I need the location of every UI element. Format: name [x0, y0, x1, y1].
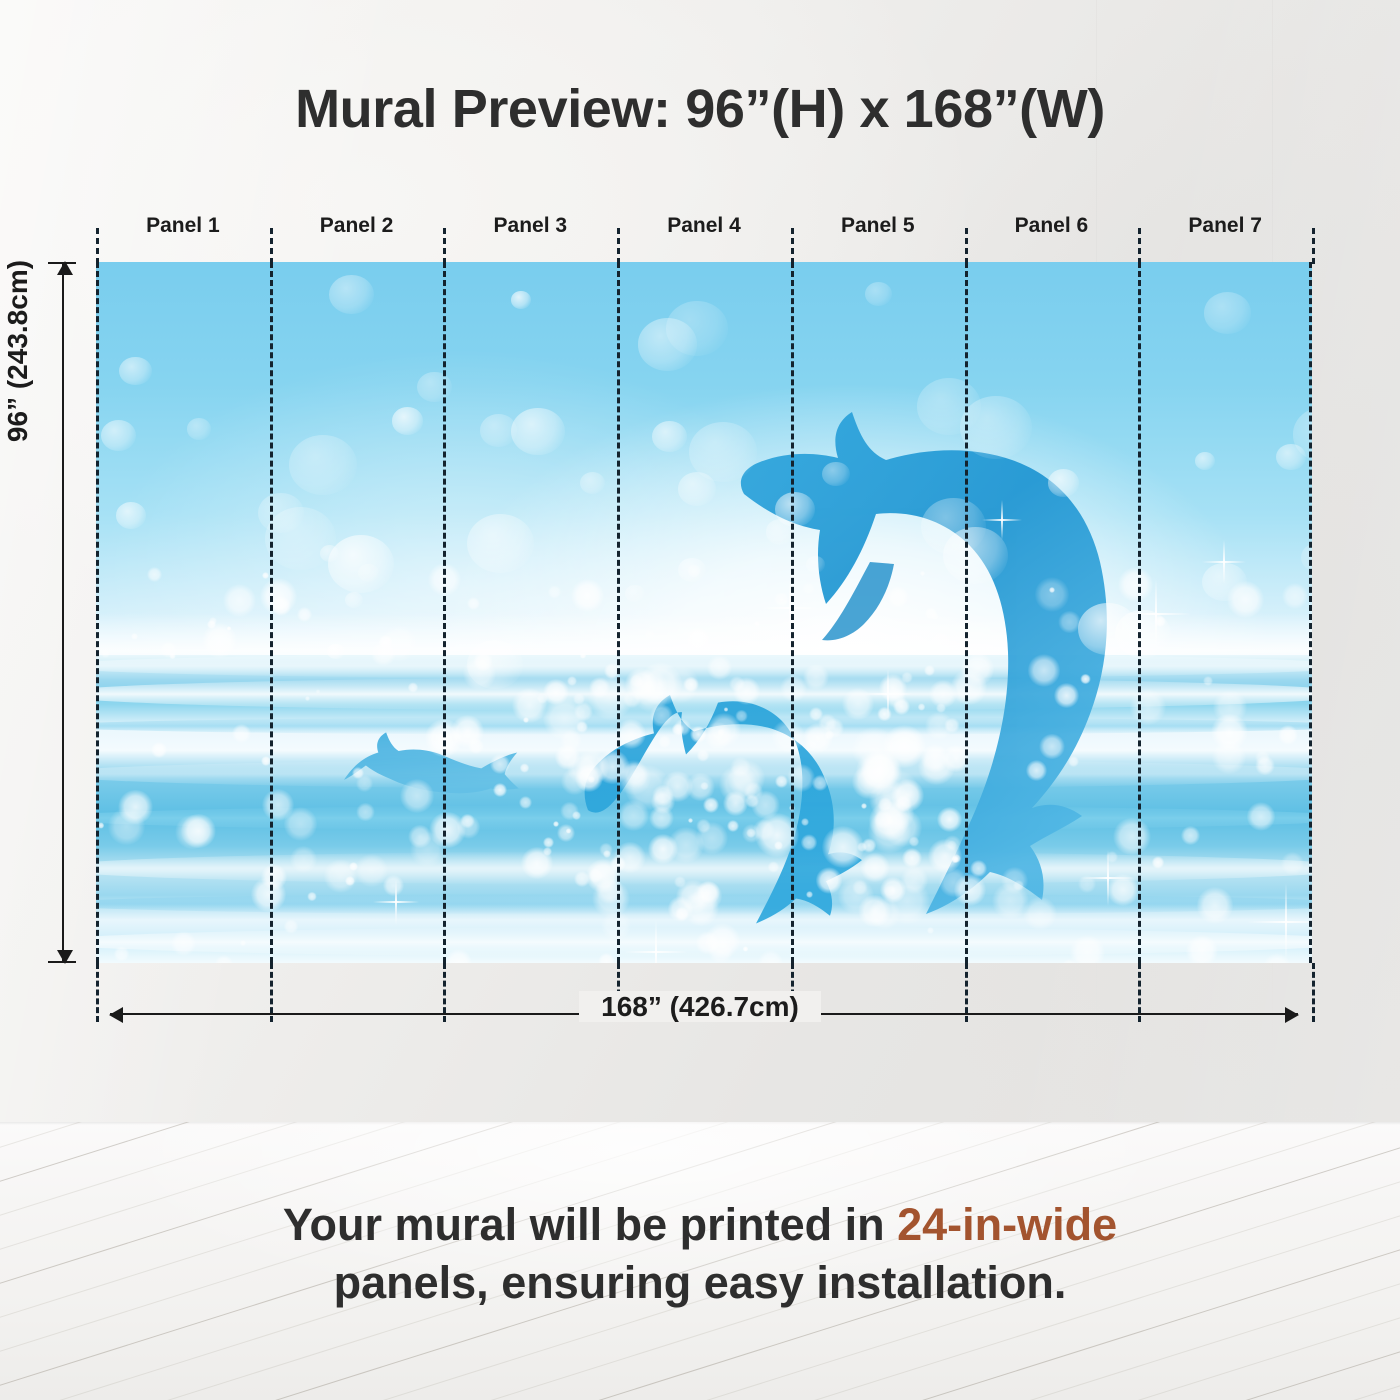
water-spray-dot: [240, 940, 246, 946]
arrow-down-icon: [57, 950, 73, 964]
splash-dot: [937, 807, 962, 832]
water-spray-dot: [1026, 760, 1047, 781]
water-spray-dot: [223, 584, 256, 617]
water-spray-dot: [1282, 583, 1308, 609]
water-spray-dot: [307, 892, 317, 902]
splash-dot: [801, 818, 809, 826]
water-spray-dot: [181, 814, 215, 848]
sparkle-star-icon: [373, 879, 419, 925]
splash-dot: [649, 806, 673, 830]
bokeh-dot: [1204, 292, 1251, 334]
splash-dot: [674, 719, 691, 736]
water-spray-dot: [806, 891, 813, 898]
water-spray-dot: [151, 742, 167, 758]
panel-guide-top-3: [617, 228, 620, 264]
splash-dot: [861, 803, 867, 809]
water-spray-dot: [284, 919, 299, 934]
water-spray-dot: [1058, 611, 1081, 634]
water-spray-dot: [493, 783, 507, 797]
water-spray-dot: [297, 607, 312, 622]
water-spray-dot: [463, 657, 496, 690]
water-spray-dot: [1255, 756, 1275, 776]
splash-dot: [696, 822, 728, 854]
water-spray-dot: [305, 696, 310, 701]
splash-dot: [574, 871, 590, 887]
bokeh-dot: [511, 291, 531, 308]
water-spray-dot: [101, 649, 110, 658]
width-dimension-text: 168” (426.7cm): [579, 991, 821, 1022]
mural-artwork: [96, 262, 1312, 963]
bokeh-dot: [625, 585, 645, 602]
panel-label-row: Panel 1Panel 2Panel 3Panel 4Panel 5Panel…: [96, 214, 1312, 248]
water-spray-dot: [1203, 676, 1213, 686]
water-spray-dot: [1028, 654, 1061, 687]
splash-dot: [560, 730, 582, 752]
panel-label-3: Panel 3: [443, 214, 617, 248]
water-spray-dot: [251, 877, 286, 912]
splash-dot: [537, 692, 548, 703]
bokeh-dot: [1195, 452, 1215, 470]
panel-label-4: Panel 4: [617, 214, 791, 248]
sparkle-star-icon: [624, 920, 688, 963]
caption-line-2: panels, ensuring easy installation.: [0, 1254, 1400, 1312]
water-spray-dot: [924, 665, 936, 677]
water-spray-dot: [1281, 852, 1304, 875]
water-spray-dot: [284, 807, 318, 841]
splash-dot: [860, 853, 890, 883]
water-spray-dot: [1039, 734, 1064, 759]
sparkle-star-icon: [982, 500, 1022, 540]
splash-dot: [575, 750, 610, 785]
water-spray-dot: [114, 946, 129, 961]
water-spray-dot: [1070, 935, 1105, 963]
water-spray-dot: [686, 627, 710, 651]
bokeh-dot: [960, 396, 1032, 459]
panel-label-5: Panel 5: [791, 214, 965, 248]
height-dimension-line: [62, 262, 64, 963]
panel-guide-top-6: [1138, 228, 1141, 264]
splash-dot: [925, 712, 953, 740]
splash-dot: [557, 824, 575, 842]
panel-guide-top-1: [270, 228, 273, 264]
water-spray-dot: [262, 572, 269, 579]
water-spray-dot: [801, 834, 817, 850]
water-spray-dot: [316, 689, 321, 694]
splash-dot: [703, 797, 719, 813]
water-spray-dot: [1001, 867, 1027, 893]
panel-label-2: Panel 2: [270, 214, 444, 248]
bokeh-dot: [652, 421, 688, 452]
water-spray-dot: [724, 707, 728, 711]
water-spray-dot: [658, 735, 671, 748]
water-spray-dot: [290, 846, 318, 874]
splash-dot: [951, 669, 987, 705]
caption-text-before: Your mural will be printed in: [283, 1199, 897, 1250]
water-spray-dot: [1306, 741, 1312, 754]
splash-dot: [733, 677, 760, 704]
water-spray-dot: [215, 955, 233, 963]
water-spray-dot: [644, 629, 655, 640]
water-spray-dot: [887, 586, 909, 608]
water-spray-dot: [927, 927, 933, 933]
water-spray-dot: [519, 796, 533, 810]
water-spray-dot: [758, 950, 783, 963]
splash-dot: [622, 762, 648, 788]
panel-guide-top-5: [965, 228, 968, 264]
bokeh-dot: [417, 372, 452, 403]
bokeh-dot: [116, 502, 146, 529]
splash-dot: [697, 749, 710, 762]
water-spray-dot: [920, 571, 925, 576]
water-spray-dot: [352, 767, 363, 778]
panel-label-6: Panel 6: [965, 214, 1139, 248]
splash-dot: [884, 879, 930, 925]
panel-divider-4: [791, 262, 794, 963]
splash-dot: [883, 808, 922, 847]
water-spray-dot: [727, 820, 739, 832]
splash-dot: [822, 826, 865, 869]
panel-divider-5: [965, 262, 968, 963]
water-spray-dot: [708, 939, 733, 963]
water-spray-dot: [754, 621, 760, 627]
splash-dot: [572, 811, 581, 820]
sparkle-star-icon: [1080, 850, 1136, 906]
water-spray-dot: [1227, 581, 1264, 618]
water-spray-dot: [598, 953, 615, 963]
water-spray-dot: [451, 715, 484, 748]
water-spray-dot: [98, 822, 104, 828]
splash-dot: [700, 782, 709, 791]
panel-guide-top-4: [791, 228, 794, 264]
caption-highlight: 24-in-wide: [897, 1199, 1117, 1250]
splash-dot: [780, 675, 807, 702]
water-spray-dot: [648, 834, 678, 864]
splash-dot: [902, 848, 922, 868]
water-spray-dot: [580, 652, 586, 658]
sparkle-star-icon: [863, 669, 913, 719]
bokeh-dot: [289, 435, 357, 495]
bokeh-dot: [638, 318, 697, 370]
sparkle-star-icon: [1202, 540, 1246, 584]
panel-label-1: Panel 1: [96, 214, 270, 248]
water-spray-dot: [429, 812, 465, 848]
water-spray-dot: [400, 779, 434, 813]
bokeh-dot: [392, 407, 423, 435]
splash-dot: [818, 714, 837, 733]
bokeh-dot: [580, 472, 605, 494]
water-spray-dot: [260, 578, 297, 615]
page-title: Mural Preview: 96”(H) x 168”(W): [0, 78, 1400, 140]
bokeh-dot: [865, 282, 892, 306]
panel-divider-3: [617, 262, 620, 963]
water-spray-dot: [1197, 887, 1234, 924]
bokeh-dot: [1301, 543, 1312, 572]
water-spray-dot: [520, 763, 529, 772]
caption-line-1: Your mural will be printed in 24-in-wide: [0, 1196, 1400, 1254]
water-spray-dot: [1054, 683, 1079, 708]
water-spray-dot: [688, 818, 693, 823]
water-spray-dot: [928, 631, 953, 656]
bokeh-dot: [806, 556, 825, 573]
bokeh-dot: [1048, 469, 1079, 497]
splash-dot: [861, 750, 900, 789]
splash-dot: [676, 880, 710, 914]
bokeh-dot: [345, 592, 363, 608]
panel-guide-top-2: [443, 228, 446, 264]
footer-caption: Your mural will be printed in 24-in-wide…: [0, 1196, 1400, 1311]
panel-divider-1: [270, 262, 273, 963]
water-spray-dot: [1023, 897, 1057, 931]
water-spray-dot: [599, 843, 613, 857]
sparkle-star-icon: [1247, 883, 1312, 961]
bokeh-dot: [187, 418, 211, 439]
panel-guide-top-7: [1312, 228, 1315, 264]
water-spray-dot: [1186, 935, 1218, 963]
water-spray-dot: [356, 803, 375, 822]
water-spray-dot: [1278, 725, 1298, 745]
water-spray-dot: [1152, 856, 1165, 869]
bokeh-dot: [265, 507, 337, 570]
water-spray-dot: [1080, 674, 1090, 684]
water-spray-dot: [131, 633, 139, 641]
mural-bokeh-overlay: [96, 262, 1312, 963]
panel-divider-6: [1138, 262, 1141, 963]
water-spray-dot: [490, 754, 510, 774]
water-spray-dot: [1130, 689, 1166, 725]
bokeh-dot: [689, 422, 757, 482]
water-spray-dot: [683, 677, 699, 693]
water-spray-dot: [408, 682, 418, 692]
water-spray-dot: [1309, 607, 1312, 612]
bokeh-dot: [119, 357, 152, 386]
water-spray-dot: [169, 653, 176, 660]
splash-dot: [616, 719, 646, 749]
bokeh-dot: [921, 498, 986, 556]
water-spray-dot: [1247, 802, 1276, 831]
splash-dot: [771, 720, 805, 754]
water-spray-dot: [571, 579, 604, 612]
bokeh-dot: [329, 275, 373, 314]
water-spray-dot: [232, 724, 251, 743]
panel-label-7: Panel 7: [1138, 214, 1312, 248]
water-spray-dot: [467, 597, 480, 610]
splash-dot: [768, 861, 780, 873]
water-spray-dot: [707, 655, 732, 680]
splash-dot: [878, 797, 892, 811]
panel-guide-top-0: [96, 228, 99, 264]
splash-dot: [954, 874, 986, 906]
water-spray-dot: [1068, 756, 1079, 767]
splash-dot: [918, 703, 925, 710]
bokeh-dot: [467, 514, 534, 573]
water-spray-dot: [324, 859, 358, 893]
splash-dot: [588, 675, 633, 720]
water-spray-dot: [1181, 826, 1200, 845]
mural-preview-screenshot: Mural Preview: 96”(H) x 168”(W) Panel 1P…: [0, 0, 1400, 1400]
water-spray-dot: [1309, 820, 1312, 855]
water-spray-dot: [931, 613, 938, 620]
water-spray-dot: [108, 808, 146, 846]
water-spray-dot: [171, 931, 196, 956]
sparkle-star-icon: [1121, 579, 1191, 649]
splash-dot: [567, 676, 577, 686]
bokeh-dot: [822, 462, 850, 486]
splash-dot: [735, 710, 748, 723]
bokeh-dot: [328, 535, 394, 593]
water-spray-dot: [202, 623, 237, 658]
bokeh-dot: [358, 564, 379, 582]
bokeh-dot: [511, 408, 564, 455]
water-spray-dot: [371, 641, 396, 666]
width-dimension-label: 168” (426.7cm): [0, 991, 1400, 1023]
water-spray-dot: [147, 567, 162, 582]
arrow-up-icon: [57, 261, 73, 275]
splash-dot: [631, 669, 668, 706]
water-spray-dot: [543, 847, 552, 856]
bokeh-dot: [327, 644, 344, 659]
water-spray-dot: [445, 949, 472, 963]
water-spray-dot: [548, 585, 562, 599]
height-dimension-label: 96” (243.8cm): [2, 1, 34, 701]
water-spray-dot: [743, 946, 749, 952]
bokeh-dot: [101, 420, 136, 451]
splash-dot: [852, 880, 868, 896]
water-spray-dot: [1035, 577, 1069, 611]
panel-divider-2: [443, 262, 446, 963]
